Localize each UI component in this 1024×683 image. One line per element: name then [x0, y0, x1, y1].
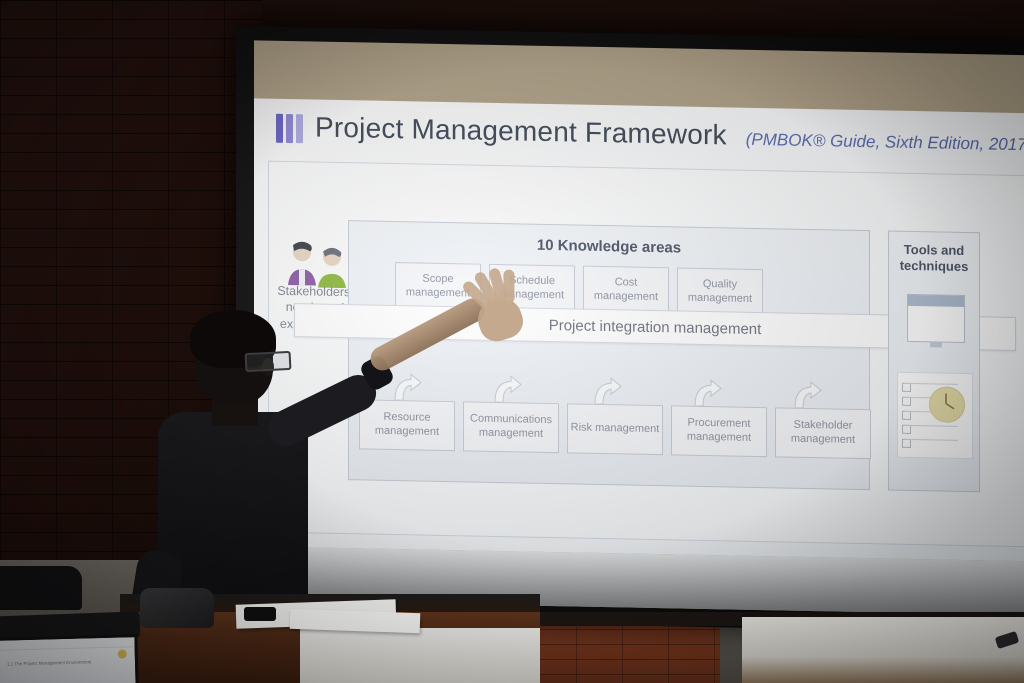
tools-and-techniques-title: Tools and techniques	[889, 242, 979, 276]
page-title: Project Management Framework	[315, 112, 727, 152]
chair	[0, 566, 82, 610]
desk-white-panel	[300, 628, 540, 683]
ka-box-procurement: Procurement management	[671, 405, 767, 457]
laptop-text-line: 1.1 The Project Management Environment	[0, 647, 135, 668]
desk-right	[742, 617, 1024, 683]
knowledge-areas-panel: 10 Knowledge areas Scope management Sche…	[348, 220, 870, 490]
slide-subtitle: (PMBOK® Guide, Sixth Edition, 2017)	[746, 130, 1024, 156]
glasses-icon	[245, 351, 292, 372]
presenter-upper-arm	[262, 369, 382, 452]
up-arrow-icon-2	[491, 372, 531, 405]
ka-box-quality: Quality management	[677, 267, 763, 317]
tools-and-techniques-panel: Tools and techniques	[888, 231, 980, 493]
knowledge-areas-bottom-row: Resource management Communications manag…	[359, 399, 871, 459]
up-arrow-icon-4	[691, 376, 731, 409]
ka-box-cost: Cost management	[583, 266, 669, 316]
knowledge-areas-title: 10 Knowledge areas	[349, 233, 869, 260]
up-arrow-icon-3	[591, 374, 631, 407]
slide-header: Project Management Framework (PMBOK® Gui…	[276, 111, 1024, 158]
presenter	[150, 300, 410, 630]
smartphone[interactable]	[244, 607, 276, 621]
ka-box-communications: Communications management	[463, 401, 559, 453]
up-arrow-icon-5	[791, 378, 831, 411]
accent-bars-icon	[276, 113, 303, 143]
ka-box-risk: Risk management	[567, 403, 663, 455]
room-scene: Project Management Framework (PMBOK® Gui…	[0, 0, 1024, 683]
clock-icon	[929, 386, 965, 423]
ka-box-stakeholder: Stakeholder management	[775, 407, 871, 459]
monitor-icon	[907, 294, 965, 343]
bag	[140, 588, 214, 628]
laptop-screen[interactable]: 1.1 The Project Management Environment	[0, 634, 139, 683]
